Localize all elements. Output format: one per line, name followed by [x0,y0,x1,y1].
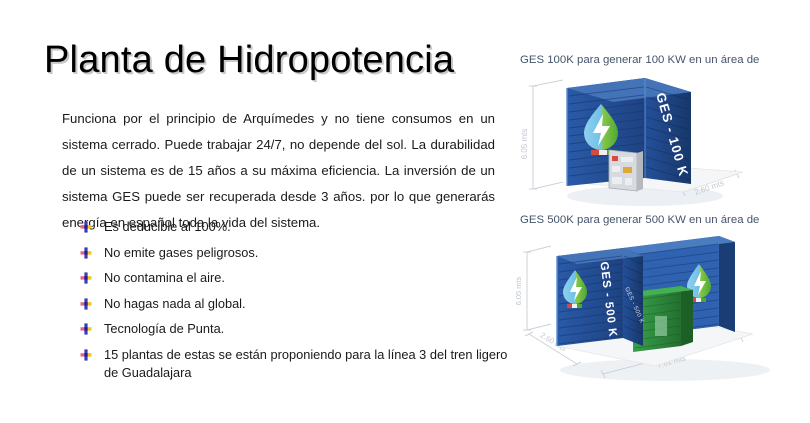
list-item-label: No hagas nada al global. [104,295,505,313]
page-title: Planta de Hidropotencia [44,39,454,83]
list-item: No emite gases peligrosos. [80,244,505,262]
list-item-label: No contamina el aire. [104,269,505,287]
figure-ges-500k: GES 500K para generar 500 KW en un área … [505,212,810,397]
figure-caption-100k: GES 100K para generar 100 KW en un área … [520,52,810,68]
control-box-icon [609,150,643,191]
figure-illustration-100k: 6.05 mts 2.60 mts [505,74,810,206]
dimension-height-100k [529,80,563,189]
cross-bullet-icon [80,323,92,335]
list-item: 15 plantas de estas se están proponiendo… [80,346,505,382]
figures-column: GES 100K para generar 100 KW en un área … [505,0,810,423]
list-item: Es deducible al 100%. [80,218,505,236]
cross-bullet-icon [80,247,92,259]
list-item-label: No emite gases peligrosos. [104,244,505,262]
container-diagram-500k: 6.05 mts 2.60 mts 7.61 mts [505,234,810,392]
benefits-list: Es deducible al 100%. No emite gases pel… [80,218,505,382]
list-item-label: Es deducible al 100%. [104,218,505,236]
list-item-label: Tecnología de Punta. [104,320,505,338]
content-column: Planta de Hidropotencia Funciona por el … [0,0,505,423]
container-diagram-100k: 6.05 mts 2.60 mts [505,74,810,206]
cross-bullet-icon [80,349,92,361]
list-item: No hagas nada al global. [80,295,505,313]
list-item: No contamina el aire. [80,269,505,287]
cross-bullet-icon [80,272,92,284]
list-item-label: 15 plantas de estas se están proponiendo… [104,346,519,382]
figure-illustration-500k: 6.05 mts 2.60 mts 7.61 mts [505,234,810,392]
list-item: Tecnología de Punta. [80,320,505,338]
intro-paragraph: Funciona por el principio de Arquímedes … [62,106,495,236]
figure-ges-100k: GES 100K para generar 100 KW en un área … [505,52,810,210]
cross-bullet-icon [80,221,92,233]
dimension-label-height-100k: 6.05 mts [520,129,529,160]
cross-bullet-icon [80,298,92,310]
figure-caption-500k: GES 500K para generar 500 KW en un área … [520,212,810,228]
dimension-height-500k [523,246,551,330]
dimension-label-height-500k: 6.05 mts [514,276,523,305]
